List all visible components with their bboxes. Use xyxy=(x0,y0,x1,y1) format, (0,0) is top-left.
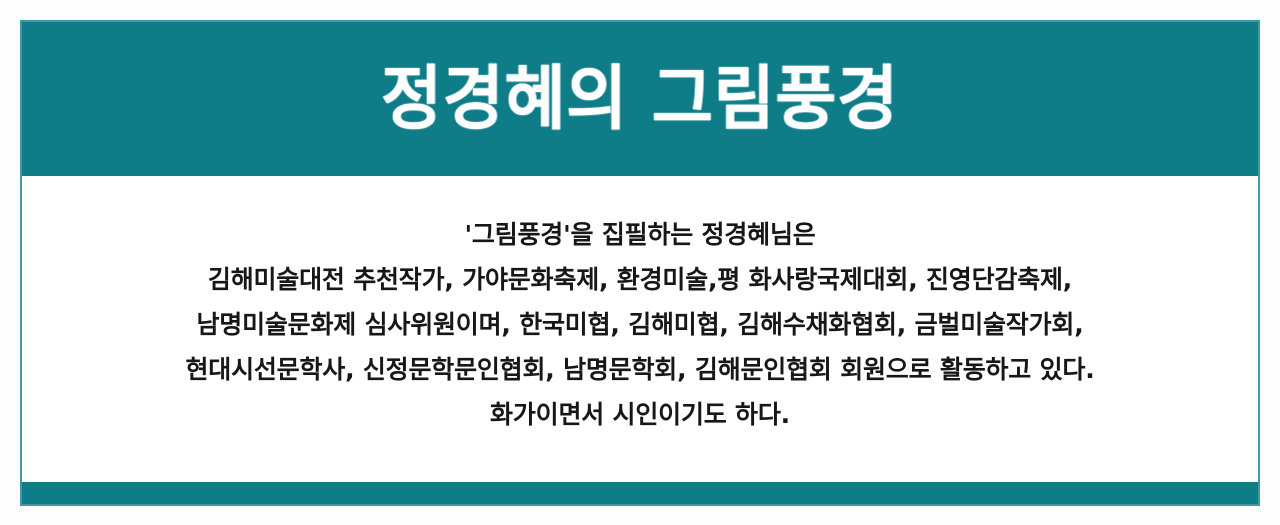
page-title: 정경혜의 그림풍경 xyxy=(381,64,899,134)
card-footer-bar xyxy=(22,482,1258,504)
bio-line-2: 김해미술대전 추천작가, 가야문화축제, 환경미술,평 화사랑국제대회, 진영단… xyxy=(22,257,1258,302)
bio-line-1: '그림풍경'을 집필하는 정경혜님은 xyxy=(22,212,1258,257)
card-body: '그림풍경'을 집필하는 정경혜님은 김해미술대전 추천작가, 가야문화축제, … xyxy=(22,176,1258,482)
bio-line-3: 남명미술문화제 심사위원이며, 한국미협, 김해미협, 김해수채화협회, 금벌미… xyxy=(22,302,1258,347)
bio-line-4: 현대시선문학사, 신정문학문인협회, 남명문학회, 김해문인협회 회원으로 활동… xyxy=(22,347,1258,392)
author-profile-card: 정경혜의 그림풍경 '그림풍경'을 집필하는 정경혜님은 김해미술대전 추천작가… xyxy=(20,20,1260,506)
bio-line-5: 화가이면서 시인이기도 하다. xyxy=(22,392,1258,437)
author-bio: '그림풍경'을 집필하는 정경혜님은 김해미술대전 추천작가, 가야문화축제, … xyxy=(22,212,1258,437)
card-header-banner: 정경혜의 그림풍경 xyxy=(22,22,1258,176)
